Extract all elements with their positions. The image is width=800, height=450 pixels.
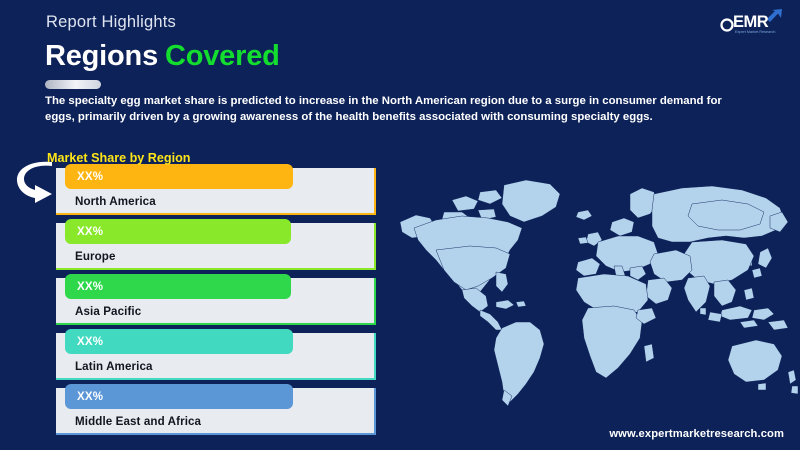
title-underline-pill (45, 80, 101, 89)
region-value: XX% (77, 391, 103, 403)
svg-text:Expert Market Research: Expert Market Research (735, 30, 775, 34)
region-label: Middle East and Africa (75, 415, 201, 428)
region-bar: XX% (65, 384, 293, 409)
region-label: Asia Pacific (75, 305, 141, 318)
emr-logo-icon[interactable]: EMR Expert Market Research (720, 7, 790, 39)
region-bar: XX% (65, 219, 291, 244)
footer-website-url[interactable]: www.expertmarketresearch.com (609, 428, 784, 440)
region-value: XX% (77, 336, 103, 348)
svg-text:EMR: EMR (733, 13, 769, 31)
list-item[interactable]: XX% Middle East and Africa (56, 388, 376, 435)
region-value: XX% (77, 281, 103, 293)
page-title-primary: Regions (45, 40, 158, 72)
report-description: The specialty egg market share is predic… (45, 94, 735, 125)
report-kicker: Report Highlights (46, 13, 176, 32)
region-bar: XX% (65, 329, 293, 354)
region-value: XX% (77, 171, 103, 183)
region-value: XX% (77, 226, 103, 238)
chart-title: Market Share by Region (47, 151, 190, 165)
page-title-accent: Covered (165, 40, 280, 72)
region-bar: XX% (65, 274, 291, 299)
region-label: Latin America (75, 360, 153, 373)
region-bar: XX% (65, 164, 293, 189)
region-share-list: XX% North America XX% Europe XX% Asia Pa… (56, 168, 376, 435)
page-title: RegionsCovered (45, 40, 280, 73)
region-label: Europe (75, 250, 116, 263)
region-label: North America (75, 195, 156, 208)
list-item[interactable]: XX% Asia Pacific (56, 278, 376, 325)
list-item[interactable]: XX% North America (56, 168, 376, 215)
list-item[interactable]: XX% Europe (56, 223, 376, 270)
list-item[interactable]: XX% Latin America (56, 333, 376, 380)
world-map (392, 150, 800, 432)
